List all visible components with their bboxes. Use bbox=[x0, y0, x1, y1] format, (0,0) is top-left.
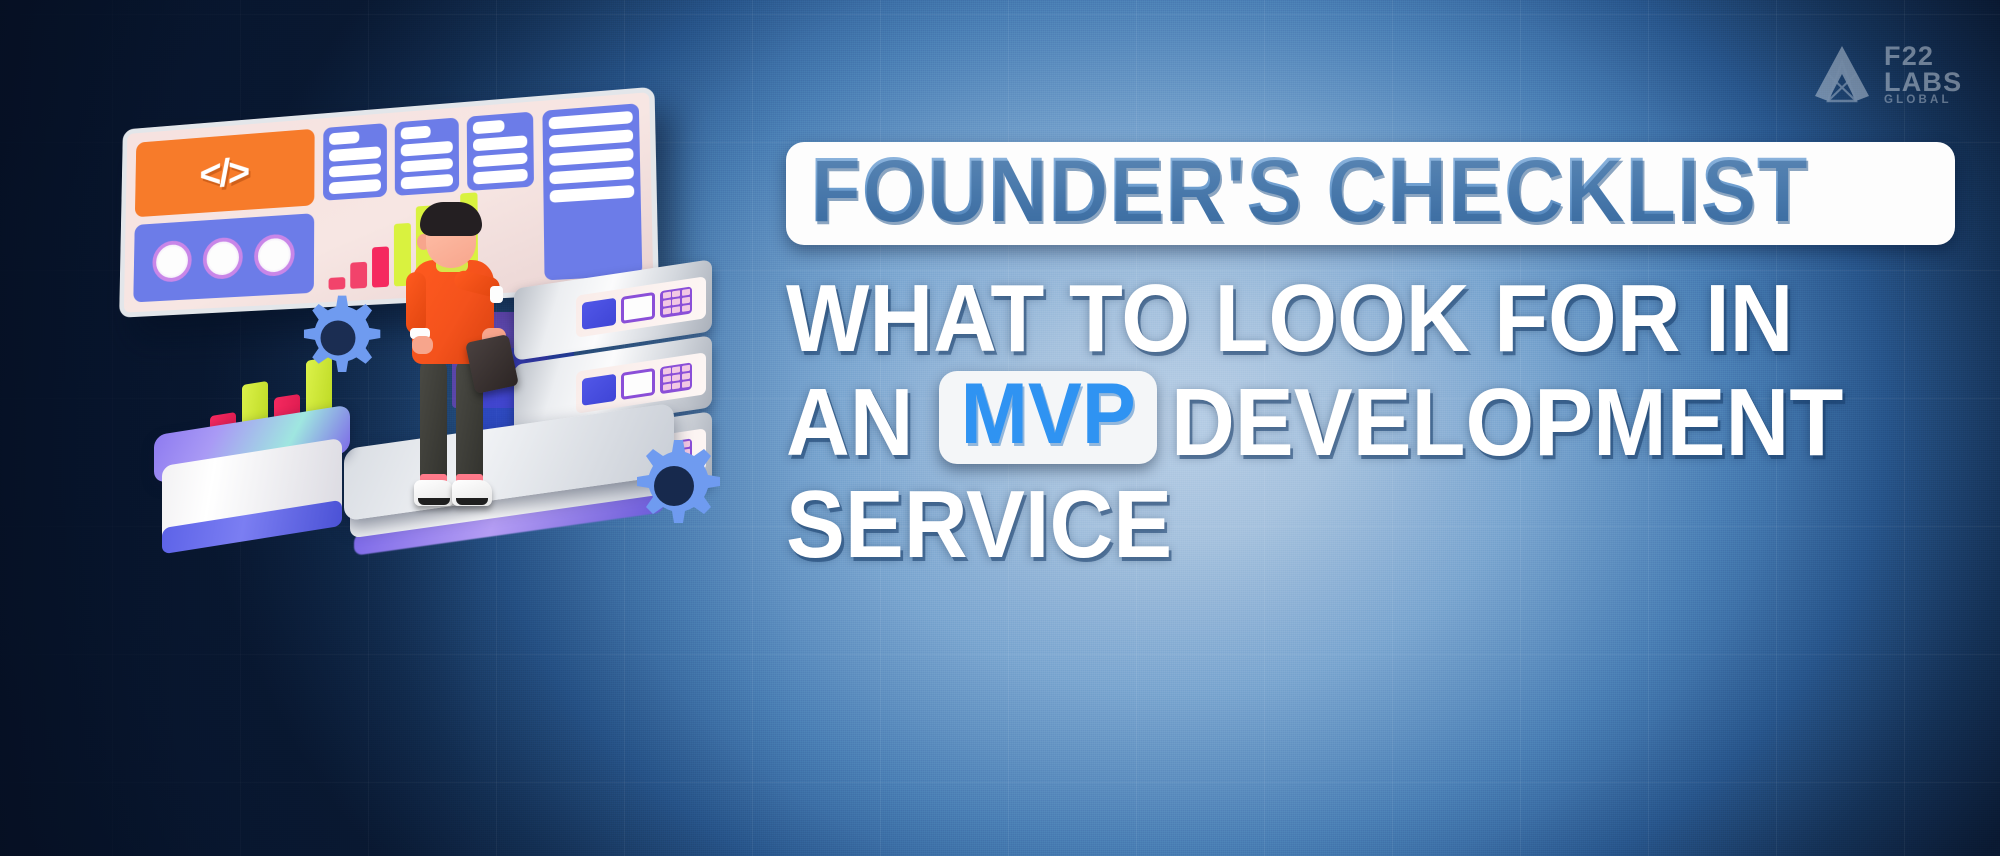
card-bar bbox=[473, 135, 527, 151]
server-grid-icon bbox=[660, 286, 692, 318]
brand-logo: F22 LABS GLOBAL bbox=[1812, 36, 1992, 114]
card-bar bbox=[400, 157, 453, 173]
headline-line-4: SERVICE bbox=[786, 477, 1872, 573]
checklist-row bbox=[549, 111, 633, 130]
gear-icon bbox=[292, 292, 384, 384]
mini-bar bbox=[350, 262, 367, 289]
server-screen-icon bbox=[582, 373, 616, 405]
dashboard-card bbox=[467, 112, 534, 191]
character-with-tablet bbox=[396, 202, 516, 502]
card-bar bbox=[329, 146, 381, 161]
hero-illustration: </> bbox=[96, 96, 786, 596]
mvp-badge-label: MVP bbox=[960, 375, 1135, 454]
page-title: FOUNDER'S CHECKLIST bbox=[810, 152, 1819, 229]
checklist-row bbox=[549, 148, 633, 166]
card-bar bbox=[400, 141, 453, 157]
card-bar bbox=[329, 163, 381, 178]
status-rings-tile bbox=[133, 213, 314, 302]
server-panel-icon bbox=[621, 367, 655, 399]
checklist-row bbox=[549, 166, 634, 184]
server-screen-icon bbox=[582, 297, 616, 329]
character-hair bbox=[420, 202, 482, 236]
headline-line-2: WHAT TO LOOK FOR IN bbox=[786, 271, 1872, 367]
f22-triangle-mark-icon bbox=[1812, 44, 1872, 106]
card-bar bbox=[473, 152, 527, 168]
card-bar bbox=[473, 120, 504, 134]
headline-block: FOUNDER'S CHECKLIST WHAT TO LOOK FOR IN … bbox=[786, 142, 1966, 573]
mini-bar bbox=[329, 277, 346, 290]
status-ring-icon bbox=[203, 236, 243, 280]
card-bar bbox=[329, 179, 381, 194]
status-ring-icon bbox=[254, 233, 295, 277]
mvp-badge: MVP bbox=[939, 371, 1157, 464]
dashboard-card bbox=[323, 123, 387, 201]
chart-pedestal bbox=[154, 364, 350, 528]
character-cuff bbox=[490, 286, 503, 303]
headline-line-3: AN MVP DEVELOPMENT bbox=[786, 375, 1966, 471]
title-banner: FOUNDER'S CHECKLIST bbox=[786, 142, 1955, 245]
status-ring-icon bbox=[152, 240, 192, 283]
dashboard-left-column: </> bbox=[133, 129, 314, 303]
brand-logo-line2: LABS bbox=[1884, 70, 1962, 95]
card-bar bbox=[329, 131, 359, 145]
dashboard-card-row bbox=[323, 112, 534, 201]
gear-icon bbox=[624, 436, 724, 536]
server-panel-icon bbox=[621, 291, 655, 323]
dashboard-checklist-panel bbox=[542, 103, 642, 280]
headline-line-3-suffix: DEVELOPMENT bbox=[1171, 375, 1843, 471]
card-bar bbox=[474, 169, 528, 185]
character-arm bbox=[406, 272, 426, 334]
character-hand bbox=[412, 336, 433, 354]
card-bar bbox=[400, 126, 430, 140]
checklist-row bbox=[549, 129, 633, 147]
brand-logo-text: F22 LABS GLOBAL bbox=[1884, 44, 1962, 106]
code-tile: </> bbox=[135, 129, 315, 218]
brand-logo-line3: GLOBAL bbox=[1884, 95, 1962, 106]
tablet-device bbox=[465, 334, 519, 394]
card-bar bbox=[400, 174, 453, 189]
mini-bar bbox=[372, 246, 389, 287]
headline-line-3-prefix: AN bbox=[786, 375, 914, 471]
server-grid-icon bbox=[660, 362, 692, 394]
banner-canvas: F22 LABS GLOBAL </> bbox=[0, 0, 2000, 856]
dashboard-card bbox=[394, 117, 459, 196]
checklist-row bbox=[550, 185, 635, 203]
brand-logo-line1: F22 bbox=[1884, 44, 1962, 69]
